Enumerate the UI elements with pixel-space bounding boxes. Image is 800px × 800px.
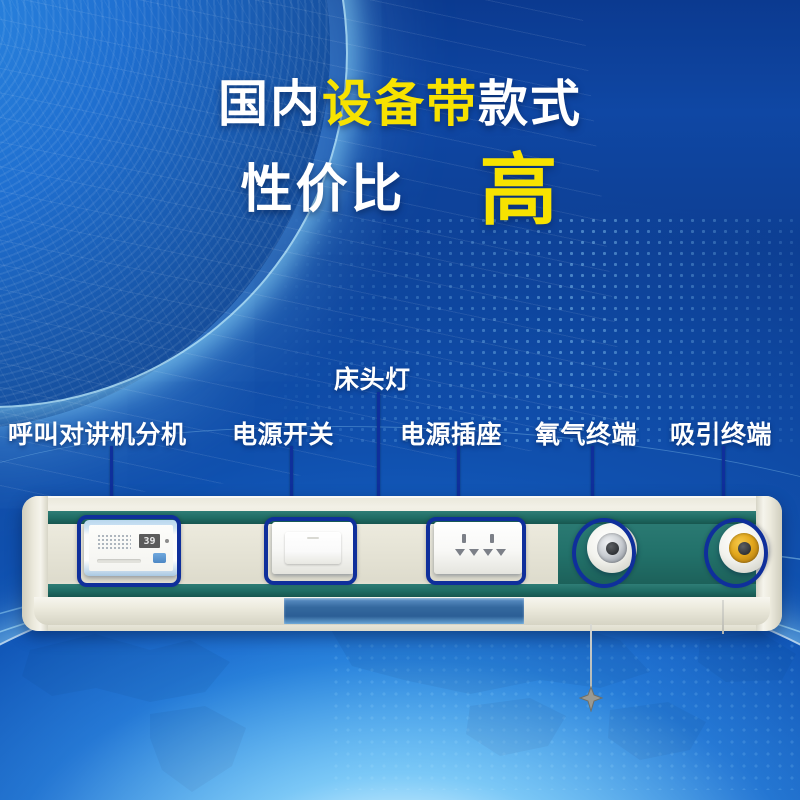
product-banner: 国内设备带款式 性价比 高 呼叫对讲机分机 电源开关 床头灯 电源插座 氧气终端…: [0, 0, 800, 800]
highlight-box-intercom: [77, 515, 181, 587]
highlight-box-power-switch: [264, 517, 357, 585]
halftone-dot-pattern: [280, 215, 800, 445]
callout-label-bed-lamp: 床头灯: [334, 360, 411, 396]
callout-label-oxygen-terminal: 氧气终端: [535, 415, 637, 451]
highlight-box-power-socket: [426, 517, 526, 585]
highlight-box-suction-terminal: [704, 518, 768, 588]
pull-cord-weight-icon: [578, 686, 604, 712]
callout-label-power-socket: 电源插座: [400, 415, 502, 451]
callout-label-suction-terminal: 吸引终端: [670, 415, 772, 451]
pull-cord-secondary[interactable]: [722, 600, 724, 634]
bed-lamp-diffuser: [284, 598, 524, 624]
callout-label-power-switch: 电源开关: [232, 415, 334, 451]
highlight-box-oxygen-terminal: [572, 518, 636, 588]
callout-label-intercom: 呼叫对讲机分机: [8, 415, 187, 451]
pull-cord[interactable]: [590, 624, 592, 694]
